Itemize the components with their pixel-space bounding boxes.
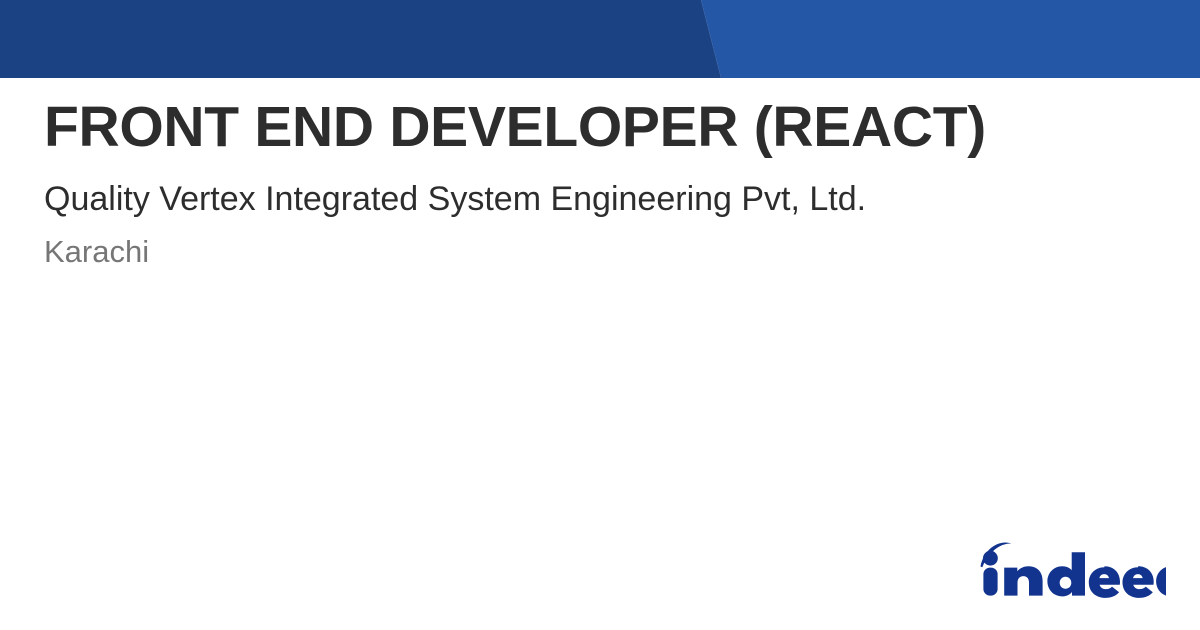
indeed-logo bbox=[966, 536, 1166, 600]
company-name: Quality Vertex Integrated System Enginee… bbox=[44, 179, 1164, 220]
job-title: FRONT END DEVELOPER (REACT) bbox=[44, 97, 1164, 159]
job-summary: FRONT END DEVELOPER (REACT) Quality Vert… bbox=[44, 97, 1164, 271]
banner-dark-panel bbox=[0, 0, 760, 78]
job-posting-card: FRONT END DEVELOPER (REACT) Quality Vert… bbox=[0, 0, 1200, 630]
job-location: Karachi bbox=[44, 233, 1164, 270]
top-banner bbox=[0, 0, 1200, 78]
